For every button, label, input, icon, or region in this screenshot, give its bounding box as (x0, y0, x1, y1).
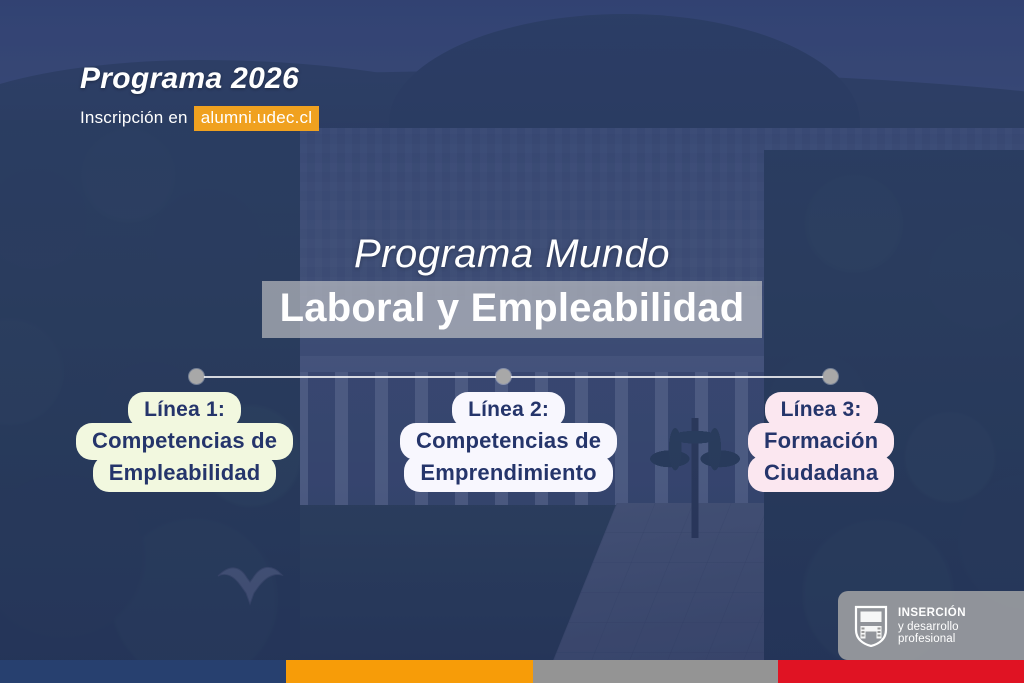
main-title-line-2-wrap: Laboral y Empleabilidad (0, 281, 1024, 338)
line-cards: Línea 1: Competencias de Empleabilidad L… (0, 392, 1024, 522)
brand-badge: INSERCIÓN y desarrollo profesional (838, 591, 1024, 660)
card-linea-3-line-b: Ciudadana (748, 455, 894, 492)
header-block: Programa 2026 Inscripción en alumni.udec… (80, 62, 319, 131)
strip-gray (533, 660, 778, 683)
strip-orange (286, 660, 533, 683)
badge-text-block: INSERCIÓN y desarrollo profesional (898, 607, 1010, 645)
main-title-line-2: Laboral y Empleabilidad (262, 281, 763, 338)
signup-prefix-label: Inscripción en (80, 108, 188, 128)
card-linea-1[interactable]: Línea 1: Competencias de Empleabilidad (76, 392, 293, 492)
timeline (0, 376, 1024, 378)
strip-navy (0, 660, 286, 683)
main-title-block: Programa Mundo Laboral y Empleabilidad (0, 232, 1024, 338)
timeline-line (196, 376, 830, 378)
timeline-dot-linea-1[interactable] (189, 369, 204, 384)
signup-line: Inscripción en alumni.udec.cl (80, 106, 319, 131)
main-title-line-1: Programa Mundo (0, 232, 1024, 277)
shield-crest-icon (854, 605, 888, 647)
card-linea-1-line-b: Empleabilidad (93, 455, 277, 492)
card-linea-3[interactable]: Línea 3: Formación Ciudadana (748, 392, 894, 492)
card-linea-2-line-b: Emprendimiento (404, 455, 612, 492)
card-linea-2[interactable]: Línea 2: Competencias de Emprendimiento (400, 392, 617, 492)
badge-subtitle: y desarrollo profesional (898, 621, 1010, 645)
bottom-color-strip (0, 660, 1024, 683)
poster-root: Programa 2026 Inscripción en alumni.udec… (0, 0, 1024, 683)
timeline-dot-linea-3[interactable] (823, 369, 838, 384)
strip-red (778, 660, 1024, 683)
badge-title: INSERCIÓN (898, 607, 1010, 619)
signup-url-link[interactable]: alumni.udec.cl (194, 106, 319, 131)
program-title: Programa 2026 (80, 62, 319, 96)
timeline-dot-linea-2[interactable] (496, 369, 511, 384)
